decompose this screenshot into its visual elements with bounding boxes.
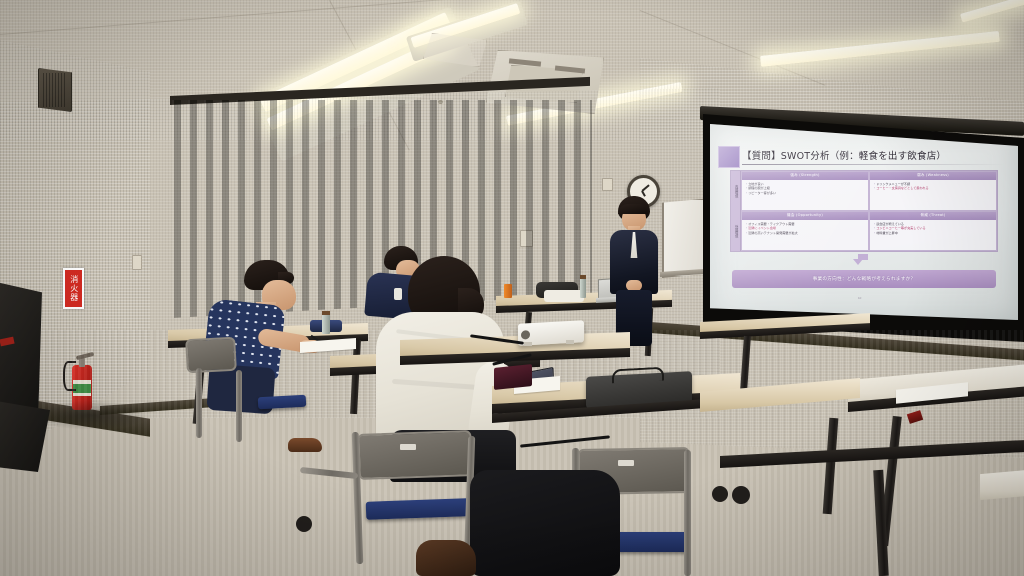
cloth [544,290,584,302]
chair-frame-right [684,450,691,576]
bottle [322,314,330,334]
light-switch[interactable] [132,255,142,270]
bottle-cap [580,275,586,279]
projector-foot [566,340,574,344]
presenter [604,196,664,346]
chair-leg [236,370,242,442]
chair-seat [366,498,471,520]
classroom-photo: 消火器 【質問】SWOT分析（例：軽食を出す飲食店） 内 [0,0,1024,576]
av-cart [0,282,42,412]
cart-accent [0,337,15,347]
chair-caster [296,516,312,532]
table-caster [732,486,750,504]
chair-back [357,430,473,480]
chair-seat [258,395,307,409]
chair-label [618,460,634,466]
fire-extinguisher-sign: 消火器 [63,268,84,309]
bottle [580,278,586,298]
chair-caster [712,486,728,502]
bottle-cap [322,311,330,315]
fire-extinguisher-sign-text: 消火器 [69,275,77,302]
wall-plate [602,178,613,191]
floor-bag [470,470,620,576]
folder [494,364,532,390]
shoe [288,438,322,452]
chair-back [185,337,237,374]
shoe [416,540,476,576]
projector-foot [524,342,532,346]
chair-label [400,444,416,450]
hair-front [618,204,648,214]
projection-screen: 【質問】SWOT分析（例：軽食を出す飲食店） 内部環境 強み (Strength… [710,124,1018,320]
chair-leg [196,368,202,438]
beverage-can [504,284,512,298]
table-top [980,470,1024,500]
wall-speaker [38,68,72,112]
